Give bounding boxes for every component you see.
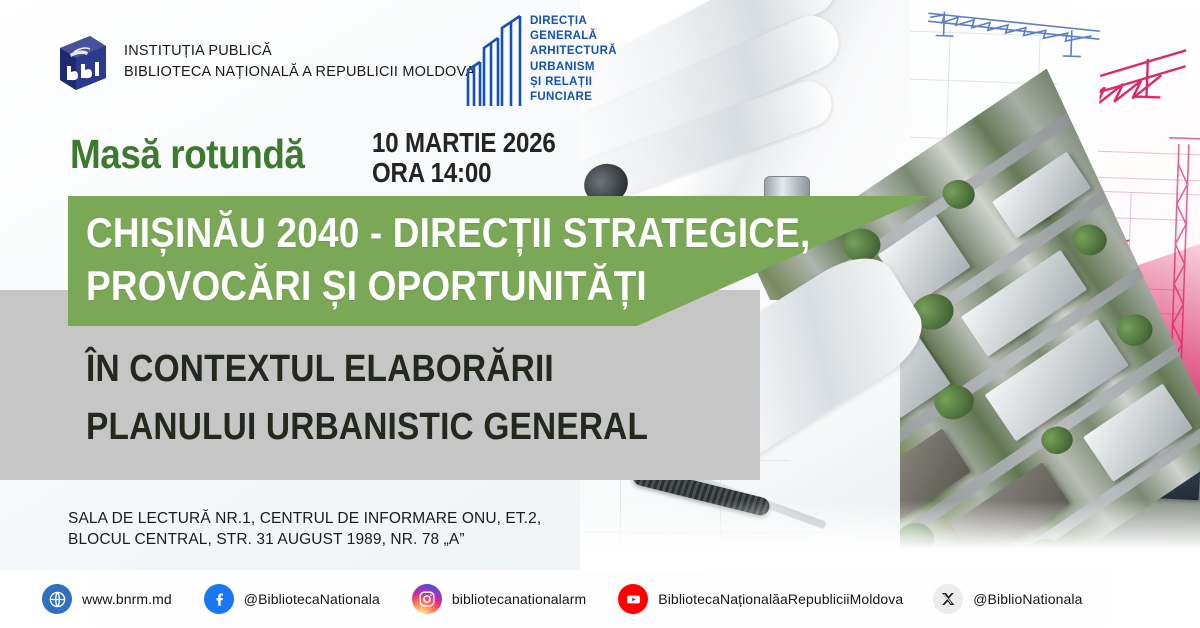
- dgaurf-line-2: GENERALĂ: [530, 29, 617, 44]
- facebook-icon: [204, 584, 234, 614]
- event-subtitle: ÎN CONTEXTUL ELABORĂRII PLANULUI URBANIS…: [86, 340, 648, 456]
- bnrm-line-2: BIBLIOTECA NAȚIONALĂ A REPUBLICII MOLDOV…: [124, 62, 475, 83]
- event-venue: SALA DE LECTURĂ NR.1, CENTRUL DE INFORMA…: [68, 508, 541, 550]
- event-kicker: Masă rotundă: [70, 132, 304, 176]
- mini-crane-icon: [921, 3, 1123, 70]
- social-label-x: @BiblioNationala: [973, 591, 1082, 607]
- poster-root: INSTITUȚIA PUBLICĂ BIBLIOTECA NAȚIONALĂ …: [0, 0, 1200, 628]
- event-venue-line-1: SALA DE LECTURĂ NR.1, CENTRUL DE INFORMA…: [68, 508, 541, 529]
- bnrm-line-1: INSTITUȚIA PUBLICĂ: [124, 41, 475, 62]
- dgaurf-logo-block: DIRECȚIA GENERALĂ ARHITECTURĂ URBANISM Ș…: [462, 8, 652, 112]
- header: INSTITUȚIA PUBLICĂ BIBLIOTECA NAȚIONALĂ …: [0, 0, 700, 120]
- dgaurf-line-4: URBANISM: [530, 60, 617, 75]
- social-label-youtube: BibliotecaNaționalăaRepubliciiMoldova: [658, 591, 903, 607]
- bnrm-cube-logo-icon: [50, 32, 112, 94]
- globe-web-icon: [42, 584, 72, 614]
- x-twitter-icon: [933, 584, 963, 614]
- event-time: ORA 14:00: [372, 158, 556, 188]
- social-link-x[interactable]: @BiblioNationala: [933, 584, 1082, 614]
- dgaurf-line-6: FUNCIARE: [530, 90, 617, 105]
- dgaurf-line-1: DIRECȚIA: [530, 14, 617, 29]
- buildings-outline-logo-icon: [462, 12, 524, 108]
- event-title: CHIȘINĂU 2040 - DIRECȚII STRATEGICE, PRO…: [86, 206, 843, 312]
- social-link-youtube[interactable]: BibliotecaNaționalăaRepubliciiMoldova: [618, 584, 903, 614]
- event-title-line-1: CHIȘINĂU 2040 - DIRECȚII STRATEGICE,: [86, 206, 843, 259]
- social-label-website: www.bnrm.md: [82, 591, 172, 607]
- dgaurf-name: DIRECȚIA GENERALĂ ARHITECTURĂ URBANISM Ș…: [530, 14, 617, 105]
- social-label-facebook: @BibliotecaNationala: [244, 591, 380, 607]
- instagram-icon: [412, 584, 442, 614]
- youtube-icon: [618, 584, 648, 614]
- event-subtitle-line-1: ÎN CONTEXTUL ELABORĂRII: [86, 340, 648, 398]
- social-link-facebook[interactable]: @BibliotecaNationala: [204, 584, 380, 614]
- dgaurf-line-5: ȘI RELAȚII: [530, 75, 617, 90]
- event-date: 10 MARTIE 2026: [372, 128, 556, 158]
- event-title-line-2: PROVOCĂRI ȘI OPORTUNITĂȚI: [86, 259, 843, 312]
- dgaurf-line-3: ARHITECTURĂ: [530, 44, 617, 59]
- social-link-instagram[interactable]: bibliotecanationalarm: [412, 584, 586, 614]
- social-label-instagram: bibliotecanationalarm: [452, 591, 586, 607]
- event-datetime: 10 MARTIE 2026 ORA 14:00: [372, 128, 556, 188]
- footer-social-bar: www.bnrm.md @BibliotecaNationala bibliot…: [0, 570, 1200, 628]
- collage-bottom-fade: [580, 500, 1200, 570]
- social-link-website[interactable]: www.bnrm.md: [42, 584, 172, 614]
- event-subtitle-line-2: PLANULUI URBANISTIC GENERAL: [86, 398, 648, 456]
- bnrm-institution-name: INSTITUȚIA PUBLICĂ BIBLIOTECA NAȚIONALĂ …: [124, 41, 475, 83]
- event-venue-line-2: BLOCUL CENTRAL, STR. 31 AUGUST 1989, NR.…: [68, 529, 541, 550]
